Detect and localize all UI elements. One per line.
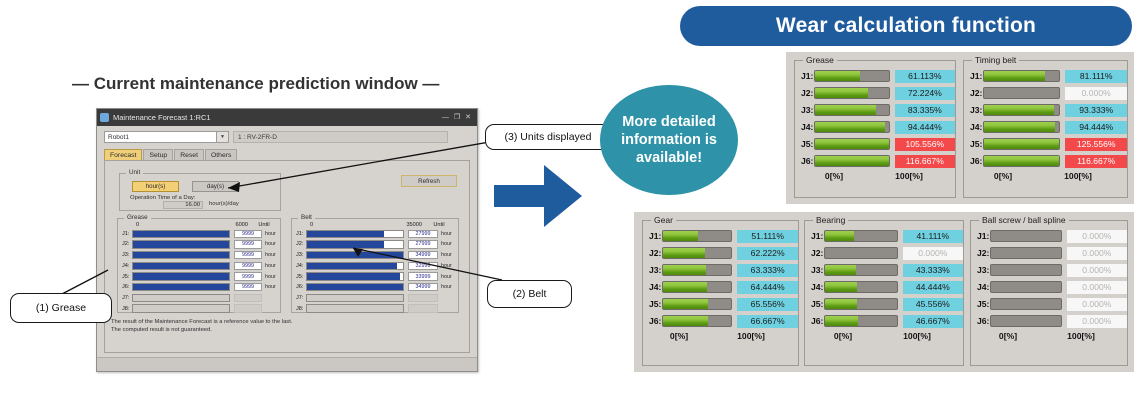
wear-group-label: Grease [803, 55, 837, 65]
progress-bar-fill [133, 252, 229, 259]
wear-scale: 0[%]100[%] [643, 331, 798, 341]
wear-row: J6:0.000% [971, 314, 1127, 328]
wear-progress-bar [990, 281, 1062, 293]
until-unit: hour [262, 252, 276, 258]
progress-bar-fill [133, 273, 229, 280]
wear-progress-bar [990, 230, 1062, 242]
wear-value: 72.224% [895, 87, 955, 100]
wear-row: J4:94.444% [795, 120, 955, 134]
until-value [234, 294, 262, 303]
axis-label: J3: [643, 265, 662, 275]
wear-progress-bar-fill [984, 122, 1055, 132]
wear-row: J1:41.111% [805, 229, 963, 243]
wear-value: 46.667% [903, 315, 963, 328]
wear-progress-bar [814, 138, 890, 150]
axis-label: J2: [118, 241, 132, 247]
legacy-grease-group: Grease 0 6000 Until J1:9999hourJ2:9999ho… [117, 218, 281, 313]
wear-row: J1:51.111% [643, 229, 798, 243]
axis-label: J3: [292, 252, 306, 258]
wear-progress-bar [824, 230, 898, 242]
wear-value: 81.111% [1065, 70, 1127, 83]
wear-rows: J1:51.111%J2:62.222%J3:63.333%J4:64.444%… [643, 221, 798, 341]
progress-bar [132, 251, 230, 260]
wear-scale-min: 0[%] [643, 331, 715, 341]
wear-progress-bar [983, 70, 1061, 82]
tab-label: Setup [149, 152, 167, 159]
wear-group-timing-belt: Timing beltJ1:81.111%J2:0.000%J3:93.333%… [963, 60, 1128, 198]
until-unit: hour [262, 274, 276, 280]
wear-row: J6:66.667% [643, 314, 798, 328]
progress-bar-fill [133, 231, 229, 238]
wear-group-label: Timing belt [972, 55, 1019, 65]
wear-progress-bar [990, 298, 1062, 310]
operation-time-unit: hour(s)/day [209, 201, 239, 207]
axis-label: J3: [805, 265, 824, 275]
wear-row: J3:83.335% [795, 103, 955, 117]
progress-bar [132, 240, 230, 249]
until-unit: hour [262, 241, 276, 247]
legacy-grease-rows: J1:9999hourJ2:9999hourJ3:9999hourJ4:9999… [118, 229, 280, 313]
progress-bar [306, 294, 404, 303]
wear-progress-bar [662, 230, 733, 242]
axis-label: J4: [971, 282, 990, 292]
callout-grease: (1) Grease [10, 293, 112, 323]
wear-progress-bar [990, 315, 1062, 327]
wear-row: J2:0.000% [805, 246, 963, 260]
wear-value: 116.667% [895, 155, 955, 168]
close-icon[interactable]: ✕ [465, 114, 471, 121]
wear-value: 51.111% [737, 230, 798, 243]
table-row: J4:9999hour [118, 261, 280, 271]
wear-progress-bar [662, 298, 733, 310]
until-value: 9999 [234, 230, 262, 239]
wear-progress-bar-fill [825, 282, 857, 292]
wear-value: 0.000% [903, 247, 963, 260]
wear-scale: 0[%]100[%] [964, 171, 1127, 181]
app-icon [100, 113, 109, 122]
wear-value: 0.000% [1067, 247, 1127, 260]
until-unit: hour [262, 263, 276, 269]
progress-bar-fill [307, 231, 384, 238]
table-row: J8: [292, 304, 458, 314]
wear-progress-bar-fill [825, 299, 858, 309]
wear-value: 125.556% [1065, 138, 1127, 151]
wear-group-ball-screw-ball-spline: Ball screw / ball splineJ1:0.000%J2:0.00… [970, 220, 1128, 366]
unit-hour-button[interactable]: hour(s) [132, 181, 179, 192]
window-title: Maintenance Forecast 1:RC1 [113, 113, 211, 122]
until-unit: hour [262, 231, 276, 237]
bubble-line-3: available! [621, 149, 717, 167]
wear-row: J4:94.444% [964, 120, 1127, 134]
wear-progress-bar-fill [825, 316, 859, 326]
wear-progress-bar [983, 138, 1061, 150]
wear-row: J5:105.556% [795, 137, 955, 151]
wear-row: J4:0.000% [971, 280, 1127, 294]
wear-progress-bar-fill [663, 265, 706, 275]
wear-row: J6:46.667% [805, 314, 963, 328]
table-row: J6:9999hour [118, 282, 280, 292]
wear-value: 83.335% [895, 104, 955, 117]
wear-value: 0.000% [1067, 281, 1127, 294]
axis-label: J1: [964, 71, 983, 81]
axis-label: J2: [795, 88, 814, 98]
wear-row: J6:116.667% [795, 154, 955, 168]
wear-row: J2:72.224% [795, 86, 955, 100]
wear-value: 0.000% [1067, 264, 1127, 277]
wear-scale-max: 100[%] [1045, 331, 1117, 341]
axis-label: J3: [971, 265, 990, 275]
table-row: J1:27999hour [292, 229, 458, 239]
table-row: J2:9999hour [118, 240, 280, 250]
wear-value: 65.556% [737, 298, 798, 311]
robot-select[interactable]: Robot1 ▼ [104, 131, 229, 143]
wear-value: 116.667% [1065, 155, 1127, 168]
banner-title: Wear calculation function [776, 14, 1036, 38]
wear-group-bearing: BearingJ1:41.111%J2:0.000%J3:43.333%J4:4… [804, 220, 964, 366]
axis-label: J2: [292, 241, 306, 247]
wear-progress-bar [990, 247, 1062, 259]
legacy-grease-until-header: Until [248, 222, 280, 228]
until-value [234, 304, 262, 313]
wear-progress-bar [824, 281, 898, 293]
axis-label: J6: [292, 284, 306, 290]
wear-progress-bar [814, 104, 890, 116]
until-unit: hour [438, 241, 452, 247]
progress-bar [132, 283, 230, 292]
table-row: J8: [118, 304, 280, 314]
wear-group-gear: GearJ1:51.111%J2:62.222%J3:63.333%J4:64.… [642, 220, 799, 366]
axis-label: J1: [118, 231, 132, 237]
wear-progress-bar [824, 298, 898, 310]
legacy-belt-label: Belt [298, 214, 315, 221]
wear-progress-bar [824, 264, 898, 276]
wear-scale: 0[%]100[%] [805, 331, 963, 341]
wear-value: 94.444% [895, 121, 955, 134]
table-row: J7: [292, 293, 458, 303]
wear-progress-bar-fill [815, 71, 860, 81]
axis-label: J2: [964, 88, 983, 98]
legacy-belt-scale: 0 35000 Until [292, 219, 458, 229]
disclaimer-line-1: The result of the Maintenance Forecast i… [111, 318, 292, 326]
wear-progress-bar-fill [815, 105, 877, 115]
wear-progress-bar-fill [825, 231, 855, 241]
wear-progress-bar-fill [815, 139, 889, 149]
wear-progress-bar [814, 155, 890, 167]
wear-progress-bar-fill [663, 299, 708, 309]
wear-group-label: Bearing [813, 215, 848, 225]
wear-progress-bar-fill [815, 122, 885, 132]
progress-bar-fill [133, 241, 229, 248]
wear-progress-bar-fill [815, 156, 889, 166]
progress-bar [132, 272, 230, 281]
axis-label: J4: [805, 282, 824, 292]
more-info-bubble: More detailed information is available! [600, 85, 738, 195]
axis-label: J1: [643, 231, 662, 241]
wear-row: J5:45.556% [805, 297, 963, 311]
legacy-grease-label: Grease [124, 214, 151, 221]
table-row: J5:9999hour [118, 272, 280, 282]
leader-line-units [222, 136, 522, 192]
wear-progress-bar-fill [825, 265, 856, 275]
wear-row: J1:0.000% [971, 229, 1127, 243]
legacy-belt-scale-min: 0 [310, 222, 388, 228]
wear-value: 0.000% [1067, 230, 1127, 243]
legacy-belt-scale-max: 35000 [388, 222, 422, 228]
until-value: 9999 [234, 283, 262, 292]
legacy-grease-scale-max: 6000 [218, 222, 248, 228]
wear-value: 0.000% [1067, 298, 1127, 311]
until-value: 9999 [234, 262, 262, 271]
axis-label: J1: [795, 71, 814, 81]
wear-progress-bar [814, 70, 890, 82]
axis-label: J4: [795, 122, 814, 132]
wear-progress-bar [662, 247, 733, 259]
axis-label: J6: [805, 316, 824, 326]
wear-rows: J1:81.111%J2:0.000%J3:93.333%J4:94.444%J… [964, 61, 1127, 181]
wear-panel-bottom: GearJ1:51.111%J2:62.222%J3:63.333%J4:64.… [634, 212, 1134, 372]
wear-progress-bar [824, 247, 898, 259]
progress-bar [132, 262, 230, 271]
robot-select-value: Robot1 [108, 134, 129, 141]
wear-row: J4:64.444% [643, 280, 798, 294]
axis-label: J2: [805, 248, 824, 258]
tab-label: Forecast [110, 152, 136, 159]
wear-value: 93.333% [1065, 104, 1127, 117]
bubble-line-2: information is [621, 131, 717, 149]
axis-label: J6: [971, 316, 990, 326]
wear-value: 45.556% [903, 298, 963, 311]
axis-label: J6: [643, 316, 662, 326]
progress-bar [132, 304, 230, 313]
wear-progress-bar-fill [984, 105, 1054, 115]
wear-progress-bar-fill [815, 88, 868, 98]
axis-label: J4: [964, 122, 983, 132]
until-value: 9999 [234, 240, 262, 249]
wear-row: J5:0.000% [971, 297, 1127, 311]
wear-scale-min: 0[%] [805, 331, 881, 341]
disclaimer-text: The result of the Maintenance Forecast i… [111, 318, 292, 334]
wear-value: 0.000% [1067, 315, 1127, 328]
until-value: 27999 [408, 230, 438, 239]
axis-label: J7: [292, 295, 306, 301]
wear-progress-bar [983, 155, 1061, 167]
progress-bar [306, 304, 404, 313]
wear-scale: 0[%]100[%] [795, 171, 955, 181]
wear-progress-bar [990, 264, 1062, 276]
axis-label: J3: [964, 105, 983, 115]
window-status-bar [97, 357, 477, 371]
wear-rows: J1:41.111%J2:0.000%J3:43.333%J4:44.444%J… [805, 221, 963, 341]
axis-label: J4: [118, 263, 132, 269]
operation-time-value: 16.00 [163, 201, 203, 209]
table-row: J7: [118, 293, 280, 303]
until-unit: hour [438, 231, 452, 237]
wear-row: J2:62.222% [643, 246, 798, 260]
wear-scale-max: 100[%] [715, 331, 787, 341]
wear-progress-bar-fill [984, 139, 1060, 149]
axis-label: J5: [971, 299, 990, 309]
until-value [408, 304, 438, 313]
wear-value: 62.222% [737, 247, 798, 260]
wear-row: J1:81.111% [964, 69, 1127, 83]
wear-group-label: Ball screw / ball spline [979, 215, 1069, 225]
wear-scale-min: 0[%] [964, 171, 1042, 181]
wear-row: J3:93.333% [964, 103, 1127, 117]
wear-rows: J1:61.113%J2:72.224%J3:83.335%J4:94.444%… [795, 61, 955, 181]
wear-progress-bar [662, 315, 733, 327]
wear-progress-bar-fill [663, 248, 706, 258]
disclaimer-line-2: The computed result is not guaranteed. [111, 326, 292, 334]
left-section-caption: — Current maintenance prediction window … [72, 74, 472, 98]
progress-bar [132, 230, 230, 239]
axis-label: J2: [971, 248, 990, 258]
wear-progress-bar [983, 104, 1061, 116]
axis-label: J2: [643, 248, 662, 258]
window-title-bar: Maintenance Forecast 1:RC1 — ❐ ✕ [97, 109, 477, 126]
wear-progress-bar-fill [984, 156, 1060, 166]
callout-units-displayed: (3) Units displayed [485, 124, 611, 150]
axis-label: J6: [964, 156, 983, 166]
wear-row: J6:116.667% [964, 154, 1127, 168]
until-value: 9999 [234, 272, 262, 281]
wear-value: 0.000% [1065, 87, 1127, 100]
wear-scale-max: 100[%] [881, 331, 953, 341]
wear-value: 64.444% [737, 281, 798, 294]
wear-value: 44.444% [903, 281, 963, 294]
wear-progress-bar-fill [984, 71, 1045, 81]
maximize-icon[interactable]: ❐ [454, 114, 460, 121]
axis-label: J5: [795, 139, 814, 149]
callout-belt: (2) Belt [487, 280, 572, 308]
axis-label: J1: [971, 231, 990, 241]
wear-group-label: Gear [651, 215, 676, 225]
minimize-icon[interactable]: — [442, 114, 449, 121]
wear-calculation-banner: Wear calculation function [680, 6, 1132, 46]
wear-row: J5:125.556% [964, 137, 1127, 151]
wear-row: J2:0.000% [971, 246, 1127, 260]
axis-label: J3: [795, 105, 814, 115]
wear-value: 105.556% [895, 138, 955, 151]
wear-progress-bar [983, 87, 1061, 99]
progress-bar [132, 294, 230, 303]
wear-panel-top: GreaseJ1:61.113%J2:72.224%J3:83.335%J4:9… [786, 52, 1134, 204]
tab-label: Reset [180, 152, 198, 159]
wear-scale-min: 0[%] [795, 171, 873, 181]
wear-value: 43.333% [903, 264, 963, 277]
wear-value: 41.111% [903, 230, 963, 243]
transition-arrow-icon [494, 165, 582, 227]
wear-row: J5:65.556% [643, 297, 798, 311]
table-row: J3:9999hour [118, 250, 280, 260]
wear-scale: 0[%]100[%] [971, 331, 1127, 341]
wear-group-grease: GreaseJ1:61.113%J2:72.224%J3:83.335%J4:9… [794, 60, 956, 198]
wear-progress-bar [662, 264, 733, 276]
wear-scale-max: 100[%] [1042, 171, 1114, 181]
axis-label: J4: [643, 282, 662, 292]
wear-progress-bar [662, 281, 733, 293]
bubble-line-1: More detailed [621, 113, 717, 131]
wear-row: J3:0.000% [971, 263, 1127, 277]
wear-scale-max: 100[%] [873, 171, 945, 181]
legacy-belt-until-header: Until [422, 222, 456, 228]
axis-label: J8: [292, 306, 306, 312]
wear-progress-bar-fill [663, 282, 707, 292]
wear-progress-bar [814, 121, 890, 133]
wear-row: J2:0.000% [964, 86, 1127, 100]
axis-label: J5: [805, 299, 824, 309]
until-unit: hour [262, 284, 276, 290]
legacy-grease-scale-min: 0 [136, 222, 218, 228]
table-row: J1:9999hour [118, 229, 280, 239]
axis-label: J1: [805, 231, 824, 241]
wear-rows: J1:0.000%J2:0.000%J3:0.000%J4:0.000%J5:0… [971, 221, 1127, 341]
wear-row: J3:43.333% [805, 263, 963, 277]
wear-value: 66.667% [737, 315, 798, 328]
wear-row: J3:63.333% [643, 263, 798, 277]
axis-label: J4: [292, 263, 306, 269]
progress-bar-fill [307, 241, 384, 248]
axis-label: J6: [795, 156, 814, 166]
wear-progress-bar [824, 315, 898, 327]
unit-group-label: Unit [126, 169, 143, 176]
axis-label: J5: [964, 139, 983, 149]
wear-row: J4:44.444% [805, 280, 963, 294]
until-value: 9999 [234, 251, 262, 260]
axis-label: J1: [292, 231, 306, 237]
axis-label: J5: [643, 299, 662, 309]
axis-label: J5: [292, 274, 306, 280]
progress-bar-fill [133, 284, 229, 291]
wear-scale-min: 0[%] [971, 331, 1045, 341]
wear-progress-bar-fill [663, 316, 709, 326]
wear-value: 94.444% [1065, 121, 1127, 134]
progress-bar [306, 230, 404, 239]
wear-progress-bar [814, 87, 890, 99]
axis-label: J3: [118, 252, 132, 258]
wear-progress-bar [983, 121, 1061, 133]
wear-row: J1:61.113% [795, 69, 955, 83]
wear-progress-bar-fill [663, 231, 698, 241]
wear-value: 63.333% [737, 264, 798, 277]
until-value [408, 294, 438, 303]
progress-bar-fill [133, 263, 229, 270]
wear-value: 61.113% [895, 70, 955, 83]
